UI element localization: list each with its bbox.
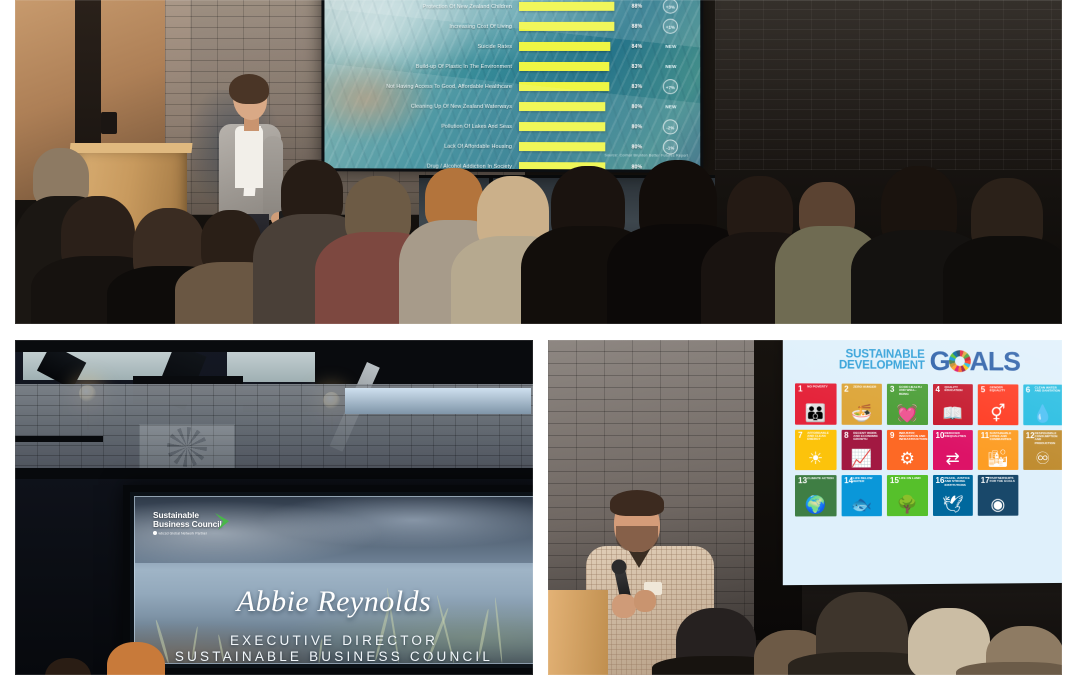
- chart-row-label: Not Having Access To Good, Affordable He…: [324, 83, 519, 89]
- sdg-goal-icon: ⇄: [932, 450, 972, 467]
- sdg-goal-title: Climate Action: [807, 477, 834, 480]
- chart-value-label: 80%: [627, 104, 653, 110]
- sdg-goal-icon: 💧: [1023, 405, 1062, 422]
- sdg-goal-number: 4: [935, 386, 939, 394]
- sdg-goal-number: 3: [890, 386, 894, 394]
- sdg-goal-icon: 💓: [887, 404, 928, 421]
- sdg-goal-grid: 1No Poverty👪2Zero Hunger🍜3Good Health An…: [795, 383, 1062, 516]
- chart-row-label: Protection Of New Zealand Children: [324, 3, 519, 9]
- chart-row: Not Having Access To Good, Affordable He…: [324, 77, 700, 96]
- speaker-title-slide: Sustainable Business Council wbcsd Globa…: [123, 485, 533, 675]
- sdg-goal-tile-2: 2Zero Hunger🍜: [841, 384, 882, 425]
- sdg-goal-number: 17: [981, 477, 990, 485]
- sdg-goal-number: 7: [798, 431, 803, 439]
- sdg-goal-tile-17: 17Partnerships For The Goals◉: [978, 475, 1018, 515]
- sdg-goal-icon: ⚙: [887, 450, 928, 467]
- sdg-goal-tile-5: 5Gender Equality⚥: [978, 384, 1018, 424]
- sdg-goal-icon: 🍜: [841, 404, 882, 421]
- chart-bar: [519, 42, 610, 51]
- logo-line-2: Business Council: [153, 520, 231, 529]
- sdg-goal-title: Gender Equality: [990, 386, 1016, 393]
- chart-bar: [519, 142, 606, 151]
- sdg-goals-als: ALS: [970, 346, 1020, 377]
- sdg-goal-title: Industry, Innovation And Infrastructure: [899, 431, 926, 441]
- sdg-goal-tile-8: 8Decent Work And Economic Growth📈: [841, 429, 882, 470]
- sdg-goal-icon: 🐟: [841, 496, 882, 513]
- sdg-goal-title: Responsible Consumption And Production: [1035, 432, 1061, 446]
- sdg-goal-number: 10: [935, 432, 944, 440]
- sdg-goal-tile-3: 3Good Health And Well-Being💓: [887, 384, 928, 425]
- chart-bar-track: [519, 122, 627, 131]
- chart-change-badge: -1%: [663, 139, 678, 154]
- chart-row-label: Lack Of Affordable Housing: [324, 143, 519, 150]
- sdg-goal-tile-4: 4Quality Education📖: [932, 384, 972, 425]
- podium-top: [69, 143, 192, 153]
- chart-bar: [519, 2, 614, 11]
- chart-value-label: 80%: [627, 144, 653, 150]
- sdg-goal-number: 8: [844, 431, 848, 439]
- bottom-left-panel: Sustainable Business Council wbcsd Globa…: [15, 340, 533, 675]
- survey-bar-chart: Protection Of New Zealand Children88%+3%…: [324, 0, 700, 173]
- sdg-goal-title: Quality Education: [944, 386, 970, 393]
- sdg-goal-title: No Poverty: [807, 385, 834, 389]
- sdg-goal-icon: ☀: [795, 450, 836, 467]
- sdg-goal-icon: 🏙: [978, 450, 1018, 467]
- speaker-name: Abbie Reynolds: [135, 585, 533, 619]
- chart-row-label: Suicide Rates: [324, 43, 519, 49]
- sdg-slide: SUSTAINABLE DEVELOPMENT G ALS 1No Povert…: [783, 340, 1062, 585]
- sdg-goal-tile-12: 12Responsible Consumption And Production…: [1023, 430, 1062, 470]
- chart-new-label: NEW: [654, 44, 688, 49]
- chart-row-label: Cleaning Up Of New Zealand Waterways: [324, 103, 519, 109]
- sdg-goal-icon: ◉: [978, 495, 1018, 512]
- sdg-goal-number: 2: [844, 386, 848, 394]
- chart-row: Suicide Rates84%NEW: [324, 37, 700, 56]
- photo-collage: Protection Of New Zealand Children88%+3%…: [0, 0, 1080, 675]
- sdg-goal-number: 15: [890, 477, 899, 485]
- sdg-goal-number: 9: [890, 431, 894, 439]
- chart-row: Drug / Alcohol Addiction In Society80%NE…: [324, 156, 700, 172]
- logo-dot-icon: [153, 531, 157, 535]
- chart-value-label: 83%: [627, 84, 653, 90]
- chart-bar: [519, 62, 609, 71]
- logo-subline: wbcsd Global Network Partner: [153, 531, 231, 536]
- chart-bar: [519, 82, 609, 91]
- sdg-color-wheel-icon: [949, 350, 971, 372]
- sdg-goal-number: 5: [981, 386, 985, 394]
- sdg-goal-number: 14: [844, 477, 853, 485]
- railing-beam: [15, 468, 533, 479]
- chart-bar-track: [519, 22, 627, 31]
- sdg-goal-tile-10: 10Reduced Inequalities⇄: [932, 430, 972, 470]
- chart-value-label: 83%: [627, 64, 653, 70]
- sdg-goal-title: Peace, Justice And Strong Institutions: [944, 477, 970, 487]
- chart-bar: [519, 122, 606, 131]
- audience-shoulders: [943, 236, 1062, 324]
- chart-row-label: Pollution Of Lakes And Seas: [324, 123, 519, 129]
- sdg-goal-title: Sustainable Cities And Communities: [990, 432, 1016, 442]
- railing-beam: [15, 436, 103, 442]
- sdg-goal-icon: 👪: [795, 404, 836, 421]
- sdg-goal-title: Good Health And Well-Being: [899, 386, 926, 396]
- sdg-goal-title: Affordable And Clean Energy: [807, 431, 834, 441]
- sdg-goal-number: 1: [798, 385, 803, 393]
- sdg-goal-number: 12: [1026, 432, 1035, 440]
- sdg-goal-tile-14: 14Life Below Water🐟: [841, 475, 882, 516]
- sdg-goal-title: Partnerships For The Goals: [990, 477, 1016, 484]
- chart-bar: [519, 102, 606, 111]
- chart-bar-track: [519, 82, 627, 91]
- sdg-goal-number: 6: [1026, 386, 1030, 394]
- chart-value-label: 88%: [627, 3, 653, 9]
- chart-new-label: NEW: [654, 64, 688, 69]
- sdg-goal-icon: ⚥: [978, 405, 1018, 422]
- sdg-goal-tile-6: 6Clean Water And Sanitation💧: [1023, 384, 1062, 424]
- chart-bar-track: [519, 62, 627, 71]
- audience-shoulders: [956, 662, 1062, 675]
- brick-wall-right: [715, 0, 1062, 170]
- chart-row: Pollution Of Lakes And Seas80%-2%: [324, 117, 700, 137]
- chart-bar-track: [519, 142, 627, 151]
- sdg-goal-tile-16: 16Peace, Justice And Strong Institutions…: [932, 475, 972, 516]
- chart-change-badge: +1%: [663, 19, 678, 34]
- chart-value-label: 80%: [627, 124, 653, 130]
- sdg-goal-tile-11: 11Sustainable Cities And Communities🏙: [978, 430, 1018, 470]
- sdg-goal-icon: 🌍: [795, 496, 836, 513]
- chart-bar-track: [519, 42, 627, 51]
- chart-row: Protection Of New Zealand Children88%+3%: [324, 0, 700, 16]
- speaker-role-line-2: SUSTAINABLE BUSINESS COUNCIL: [135, 649, 533, 664]
- sdg-goal-number: 13: [798, 477, 807, 485]
- window-band: [345, 388, 531, 414]
- sdg-goal-icon: 🕊: [932, 495, 972, 512]
- chart-row: Build-up Of Plastic In The Environment83…: [324, 57, 700, 76]
- sdg-goal-title: Life Below Water: [853, 477, 880, 484]
- chart-value-label: 80%: [627, 164, 653, 170]
- sdg-heading-word-2: DEVELOPMENT: [839, 360, 925, 372]
- chart-change-badge: +7%: [663, 79, 678, 94]
- sdg-heading: SUSTAINABLE DEVELOPMENT G ALS: [783, 341, 1062, 381]
- podium: [548, 590, 608, 675]
- sdg-goal-icon: 📈: [841, 450, 882, 467]
- sdg-goal-title: Reduced Inequalities: [944, 432, 970, 439]
- chart-row-label: Increasing Cost Of Living: [324, 23, 519, 29]
- sdg-goal-number: 16: [935, 477, 944, 485]
- chart-row-label: Drug / Alcohol Addiction In Society: [324, 163, 519, 170]
- sdg-goal-title: Decent Work And Economic Growth: [853, 431, 880, 441]
- chart-row: Increasing Cost Of Living88%+1%: [324, 17, 700, 37]
- chart-value-label: 84%: [627, 43, 653, 49]
- chart-value-label: 88%: [627, 23, 653, 29]
- chart-change-badge: +3%: [663, 0, 678, 14]
- sdg-goal-icon: 📖: [932, 405, 972, 422]
- sdg-goal-tile-15: 15Life On Land🌳: [887, 475, 928, 516]
- speaker-role-line-1: EXECUTIVE DIRECTOR: [135, 633, 533, 648]
- logo-subline-text: wbcsd Global Network Partner: [159, 532, 208, 536]
- sdg-goal-tile-1: 1No Poverty👪: [795, 383, 836, 424]
- chart-row-label: Build-up Of Plastic In The Environment: [324, 63, 519, 69]
- chart-change-badge: -2%: [663, 119, 678, 134]
- sdg-goal-number: 11: [981, 432, 989, 440]
- sdg-goal-icon: 🌳: [887, 496, 928, 513]
- chart-bar: [519, 22, 614, 31]
- ceiling-beam: [315, 344, 533, 388]
- sdg-goal-icon: ♾: [1023, 450, 1062, 467]
- wall-speaker-box: [101, 112, 117, 134]
- chart-new-label: NEW: [654, 104, 688, 109]
- sdg-goal-tile-7: 7Affordable And Clean Energy☀: [795, 429, 836, 470]
- sdg-goal-title: Clean Water And Sanitation: [1035, 387, 1061, 394]
- chart-bar-track: [519, 2, 627, 11]
- bottom-right-panel: SUSTAINABLE DEVELOPMENT G ALS 1No Povert…: [548, 340, 1062, 675]
- sdg-goal-title: Zero Hunger: [853, 386, 880, 390]
- chart-bar-track: [519, 102, 627, 111]
- sdg-goal-tile-9: 9Industry, Innovation And Infrastructure…: [887, 429, 928, 470]
- concerns-survey-slide: Protection Of New Zealand Children88%+3%…: [322, 0, 704, 173]
- chart-row: Cleaning Up Of New Zealand Waterways80%N…: [324, 97, 700, 117]
- sdg-goal-title: Life On Land: [899, 477, 926, 480]
- sustainable-business-council-logo: Sustainable Business Council wbcsd Globa…: [153, 511, 231, 536]
- sdg-goals-g: G: [930, 345, 950, 376]
- top-panel: Protection Of New Zealand Children88%+3%…: [15, 0, 1062, 324]
- sdg-goal-tile-13: 13Climate Action🌍: [795, 475, 836, 516]
